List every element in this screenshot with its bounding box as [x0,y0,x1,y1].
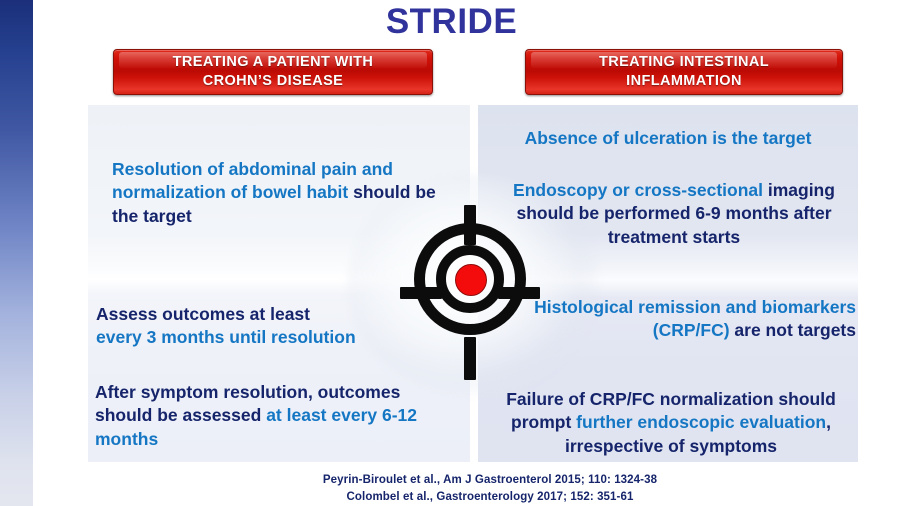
text-assess-lead: Assess outcomes at least [96,304,310,324]
text-endoscopy-highlight: Endoscopy or cross-sectional [513,180,763,200]
banner-left-line2: CROHN’S DISEASE [195,73,352,89]
text-not-targets: Histological remission and biomarkers (C… [486,296,856,343]
banner-right-text: TREATING INTESTINAL INFLAMMATION [583,53,785,91]
text-resolution-of-symptoms: Resolution of abdominal pain and normali… [112,158,442,228]
banner-left-text: TREATING A PATIENT WITH CROHN’S DISEASE [157,53,390,91]
banner-left-line1: TREATING A PATIENT WITH [165,54,382,70]
text-endoscopy-timing: Endoscopy or cross-sectional imaging sho… [490,179,858,249]
text-assess-highlight: every 3 months until resolution [96,327,356,347]
banner-treating-intestinal-inflammation: TREATING INTESTINAL INFLAMMATION [525,49,843,95]
citation-line-2: Colombel et al., Gastroenterology 2017; … [95,491,885,503]
banner-treating-patient-crohns: TREATING A PATIENT WITH CROHN’S DISEASE [113,49,433,95]
text-crp-highlight: further endoscopic evaluation [576,412,826,432]
citation-line-1: Peyrin-Biroulet et al., Am J Gastroenter… [95,474,885,486]
text-after-symptom-resolution: After symptom resolution, outcomes shoul… [95,381,440,451]
left-edge-gradient-strip [0,0,33,506]
text-crp-fc-failure: Failure of CRP/FC normalization should p… [483,388,859,458]
text-absence-of-ulceration: Absence of ulceration is the target [478,127,858,150]
banner-right-line2: INFLAMMATION [618,73,750,89]
text-not-targets-rest: are not targets [730,320,856,340]
text-absence-highlight: Absence of ulceration is the target [525,128,812,148]
text-assess-outcomes: Assess outcomes at least every 3 months … [96,303,436,350]
column-divider [470,105,478,462]
banner-right-line1: TREATING INTESTINAL [591,54,777,70]
page-title: STRIDE [0,2,903,42]
